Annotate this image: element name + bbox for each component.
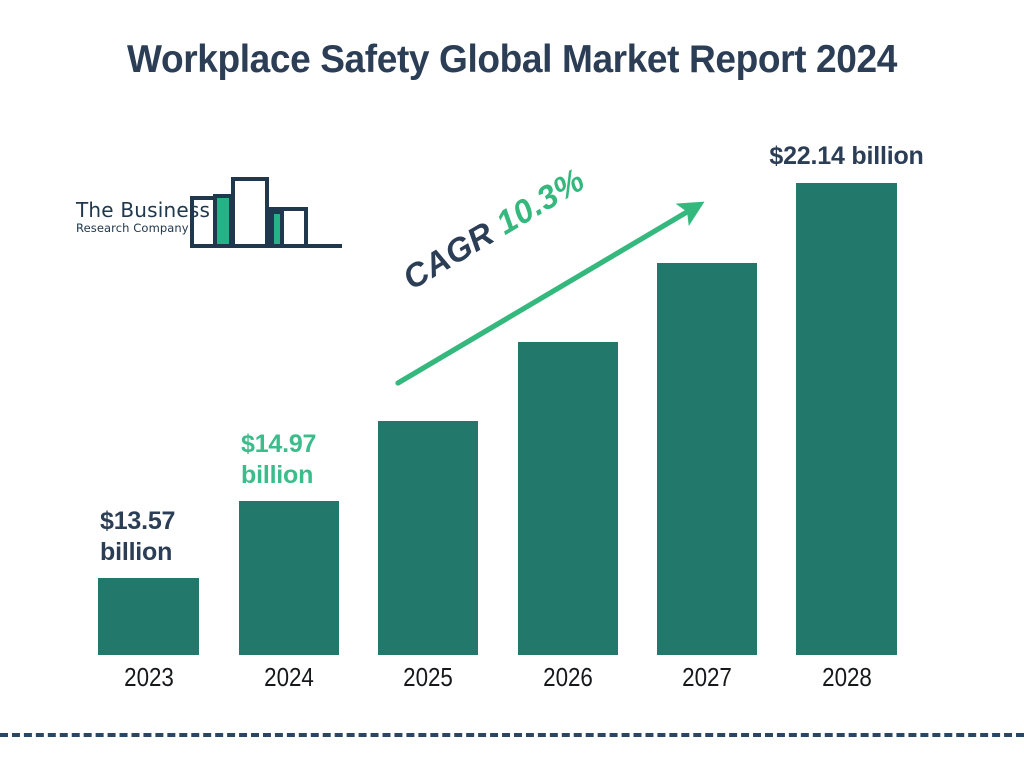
footer-divider <box>0 733 1024 737</box>
bar-chart-plot-area: $13.57 billion2023$14.97 billion20242025… <box>0 0 1024 768</box>
x-axis-tick-2025: 2025 <box>368 662 488 693</box>
bar-2023 <box>98 578 199 655</box>
bar-value-label-2028: $22.14 billion <box>737 141 957 172</box>
chart-canvas: Workplace Safety Global Market Report 20… <box>0 0 1024 768</box>
bar-2024 <box>239 501 339 655</box>
bar-2027 <box>657 263 757 655</box>
x-axis-tick-2028: 2028 <box>786 662 906 693</box>
x-axis-tick-2024: 2024 <box>229 662 349 693</box>
x-axis-tick-2027: 2027 <box>647 662 767 693</box>
x-axis-tick-2023: 2023 <box>88 662 208 693</box>
bar-2028 <box>796 183 897 655</box>
bar-2025 <box>378 421 478 655</box>
bar-2026 <box>518 342 618 655</box>
x-axis-tick-2026: 2026 <box>508 662 628 693</box>
